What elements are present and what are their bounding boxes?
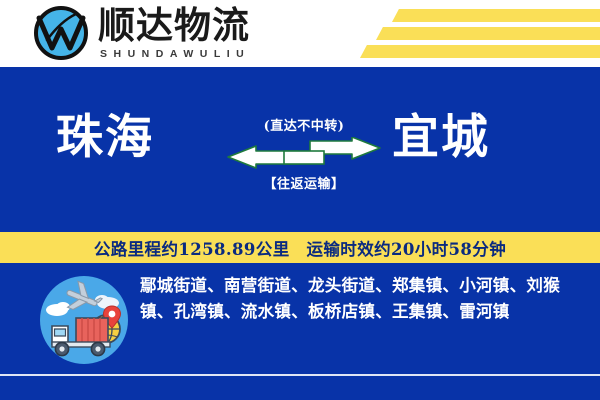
logistics-truck-plane-globe-icon — [36, 272, 132, 368]
distance-duration-text: 公路里程约1258.89公里 运输时效约20小时58分钟 — [94, 236, 506, 260]
stripe-2 — [376, 27, 600, 40]
route-section: 珠海 (直达不中转) 【往返运输】 宜城 — [0, 67, 600, 232]
coverage-section: 鄢城街道、南营街道、龙头街道、郑集镇、小河镇、刘猴镇、孔湾镇、流水镇、板桥店镇、… — [0, 263, 600, 373]
distance-duration-bar: 公路里程约1258.89公里 运输时效约20小时58分钟 — [0, 232, 600, 263]
brand-name-cn: 顺达物流 — [98, 6, 250, 45]
coverage-areas-text: 鄢城街道、南营街道、龙头街道、郑集镇、小河镇、刘猴镇、孔湾镇、流水镇、板桥店镇、… — [140, 273, 588, 325]
bidirectional-arrow-icon — [224, 137, 384, 171]
bottom-divider — [0, 374, 600, 376]
header-stripes-decoration — [330, 0, 600, 67]
route-note-direct: (直达不中转) — [224, 115, 384, 134]
stripe-1 — [392, 9, 600, 22]
brand-name-en: SHUNDAWULIU — [100, 48, 250, 60]
route-arrow-block: (直达不中转) 【往返运输】 — [224, 115, 384, 192]
banner-header: 顺达物流 SHUNDAWULIU — [0, 0, 600, 67]
brand-text: 顺达物流 SHUNDAWULIU — [98, 6, 250, 60]
route-note-roundtrip: 【往返运输】 — [224, 173, 384, 192]
destination-city: 宜城 — [392, 114, 490, 161]
logistics-route-banner: 顺达物流 SHUNDAWULIU 珠海 (直达不中转) — [0, 0, 600, 400]
origin-city: 珠海 — [56, 114, 154, 161]
brand-logo: 顺达物流 SHUNDAWULIU — [30, 4, 250, 62]
swoosh-circle-logo-icon — [30, 4, 92, 62]
stripe-3 — [360, 45, 600, 58]
